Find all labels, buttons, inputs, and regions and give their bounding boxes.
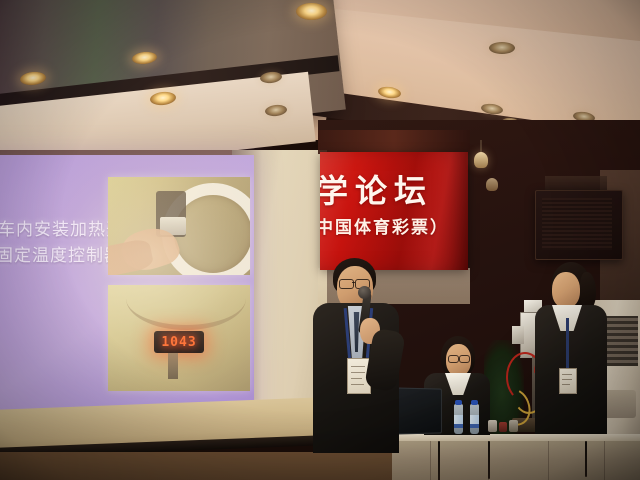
badge-text-line	[562, 374, 572, 375]
bottle-label-band	[454, 424, 463, 428]
badge-text-line	[562, 384, 570, 385]
glasses-lens-left	[448, 355, 459, 363]
led-display-stand	[168, 353, 178, 379]
hanging-cable	[438, 441, 440, 480]
banner-fabric-shading	[320, 152, 468, 270]
desk-small-object	[499, 422, 507, 432]
badge-text-line	[351, 366, 365, 367]
bottle-label	[454, 415, 463, 424]
conference-hall-photo: 学论坛 中国体育彩票） 在车内安装加热开 固定温度控制器 1043	[0, 0, 640, 480]
glasses-bridge	[352, 282, 355, 283]
car-seat-curve-shape	[126, 285, 246, 330]
face	[552, 272, 580, 308]
badge-text-line	[351, 384, 364, 385]
banner-title-line1: 学论坛	[320, 174, 466, 208]
bottle-cap	[455, 400, 462, 405]
ceiling-downlight	[489, 42, 515, 54]
desk-small-object	[509, 420, 518, 432]
badge-text-line	[562, 379, 572, 380]
pendant-light-icon	[486, 178, 498, 191]
floor	[0, 452, 420, 480]
slide-photo-car-interior	[108, 177, 250, 275]
banner-title-line2: 中国体育彩票）	[320, 218, 468, 238]
table-skirt-fold	[604, 441, 605, 480]
slide-caption-line1: 在车内安装加热开	[0, 220, 124, 240]
bottle-label-band	[470, 424, 479, 428]
table-skirt-fold	[430, 441, 431, 480]
led-display-value: 1043	[158, 334, 200, 350]
microphone-head	[358, 286, 371, 299]
wall-speaker-grill	[542, 198, 612, 250]
banner-top-strip	[318, 130, 470, 154]
hanging-cable	[585, 441, 587, 477]
projection-screen: 在车内安装加热开 固定温度控制器 1043	[0, 155, 254, 417]
desk-small-object	[488, 420, 497, 432]
slide-photo-temperature-display: 1043	[108, 285, 250, 391]
lanyard	[566, 318, 569, 370]
glasses-lens-left	[339, 279, 354, 289]
hanging-cable	[488, 441, 490, 479]
badge-text-line	[351, 372, 365, 373]
id-badge	[559, 368, 577, 394]
badge-text-line	[351, 378, 362, 379]
bottle-label	[470, 415, 479, 424]
table-skirt-fold	[548, 441, 549, 480]
bottle-cap	[471, 400, 478, 405]
ceiling-downlight	[296, 3, 327, 20]
apparatus-side-box	[512, 326, 524, 344]
pendant-light-icon	[474, 152, 488, 168]
glasses-lens-right	[459, 355, 470, 363]
red-event-banner: 学论坛 中国体育彩票）	[320, 152, 468, 270]
